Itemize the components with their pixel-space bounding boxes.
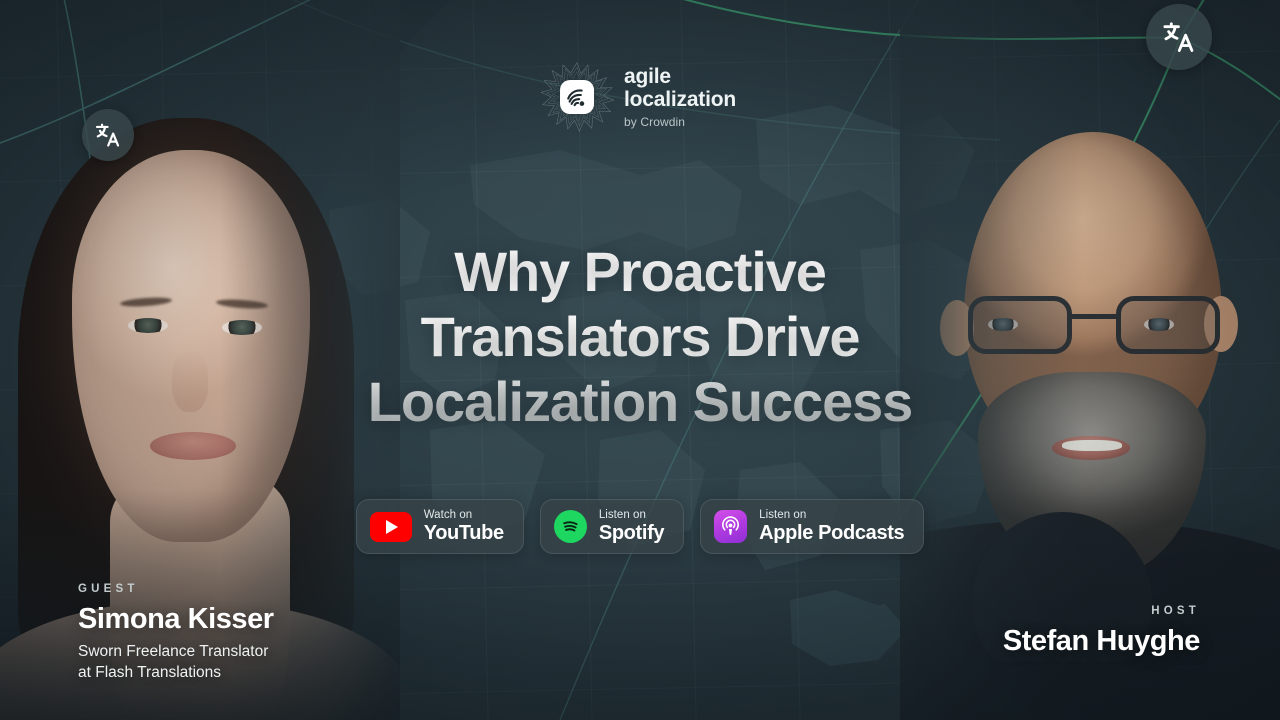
youtube-name: YouTube <box>424 523 504 544</box>
translate-icon <box>94 121 122 149</box>
swirl-waves-icon <box>565 85 589 109</box>
logo-line-2: localization <box>624 88 736 112</box>
host-name: Stefan Huyghe <box>1003 626 1200 658</box>
episode-title-line-3: Localization Success <box>0 370 1280 435</box>
episode-title-line-1: Why Proactive <box>0 240 1280 305</box>
youtube-prefix: Watch on <box>424 509 504 521</box>
episode-title: Why Proactive Translators Drive Localiza… <box>0 240 1280 435</box>
apple-podcasts-prefix: Listen on <box>759 509 904 521</box>
guest-title-line-2: at Flash Translations <box>78 663 274 684</box>
podcast-episode-cover: agile localization by Crowdin Why Proact… <box>0 0 1280 720</box>
guest-info: GUEST Simona Kisser Sworn Freelance Tran… <box>78 583 274 684</box>
youtube-label: Watch on YouTube <box>424 509 504 544</box>
watch-on-youtube-button[interactable]: Watch on YouTube <box>356 499 524 554</box>
apple-podcasts-name: Apple Podcasts <box>759 523 904 544</box>
episode-title-line-2: Translators Drive <box>0 305 1280 370</box>
spotify-waves-icon <box>559 515 582 538</box>
host-info: HOST Stefan Huyghe <box>1003 605 1200 658</box>
youtube-icon <box>370 512 412 542</box>
apple-podcasts-icon <box>714 510 747 543</box>
logo-mark <box>544 64 610 130</box>
logo-tile <box>560 80 594 114</box>
translate-icon-badge-top-left[interactable] <box>82 109 134 161</box>
spotify-icon <box>554 510 587 543</box>
apple-podcasts-label: Listen on Apple Podcasts <box>759 509 904 544</box>
podcast-mic-icon <box>719 515 742 538</box>
guest-title-line-1: Sworn Freelance Translator <box>78 642 274 663</box>
platform-buttons: Watch on YouTube Listen on Spotify <box>0 499 1280 554</box>
guest-title: Sworn Freelance Translator at Flash Tran… <box>78 642 274 684</box>
logo-line-1: agile <box>624 65 736 89</box>
translate-icon-badge-top-right[interactable] <box>1146 4 1212 70</box>
logo-byline: by Crowdin <box>624 116 736 129</box>
guest-name: Simona Kisser <box>78 604 274 636</box>
listen-on-apple-podcasts-button[interactable]: Listen on Apple Podcasts <box>700 499 924 554</box>
spotify-name: Spotify <box>599 523 664 544</box>
translate-icon <box>1161 19 1197 55</box>
logo-text: agile localization by Crowdin <box>624 65 736 129</box>
host-role-label: HOST <box>1003 605 1200 617</box>
guest-role-label: GUEST <box>78 583 274 595</box>
listen-on-spotify-button[interactable]: Listen on Spotify <box>540 499 684 554</box>
brand-logo[interactable]: agile localization by Crowdin <box>544 64 736 130</box>
spotify-prefix: Listen on <box>599 509 664 521</box>
spotify-label: Listen on Spotify <box>599 509 664 544</box>
